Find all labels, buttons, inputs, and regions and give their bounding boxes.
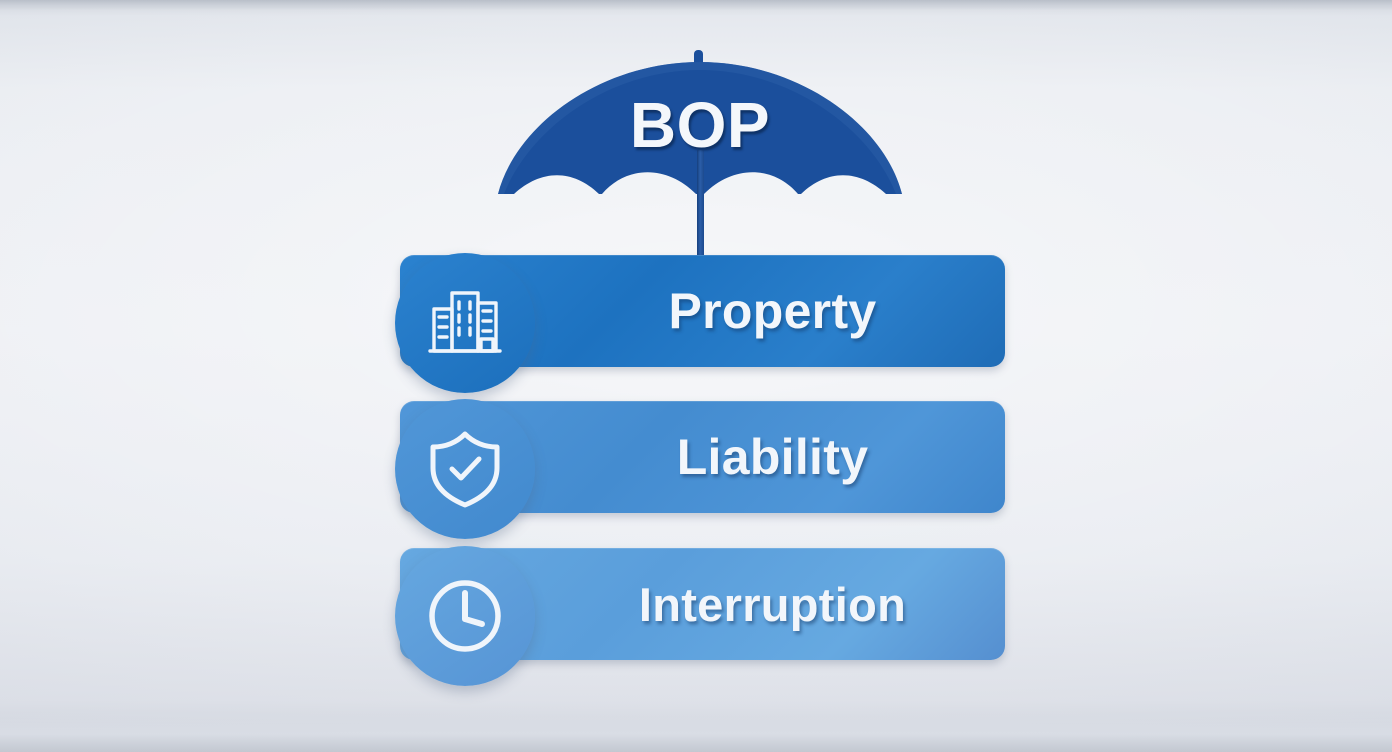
bop-diagram-canvas: BOP: [0, 0, 1392, 752]
coverage-row-interruption[interactable]: Interruption: [395, 546, 1005, 662]
coverage-label: Interruption: [540, 548, 1005, 660]
umbrella-label: BOP: [498, 93, 902, 157]
clock-icon: [395, 546, 535, 686]
coverage-label: Liability: [540, 401, 1005, 513]
office-buildings-icon: [395, 253, 535, 393]
shield-check-icon: [395, 399, 535, 539]
background-bottom-strip: [0, 712, 1392, 752]
coverage-label: Property: [540, 255, 1005, 367]
coverage-row-liability[interactable]: Liability: [395, 399, 1005, 515]
coverage-row-property[interactable]: Property: [395, 253, 1005, 369]
background-top-strip: [0, 0, 1392, 10]
